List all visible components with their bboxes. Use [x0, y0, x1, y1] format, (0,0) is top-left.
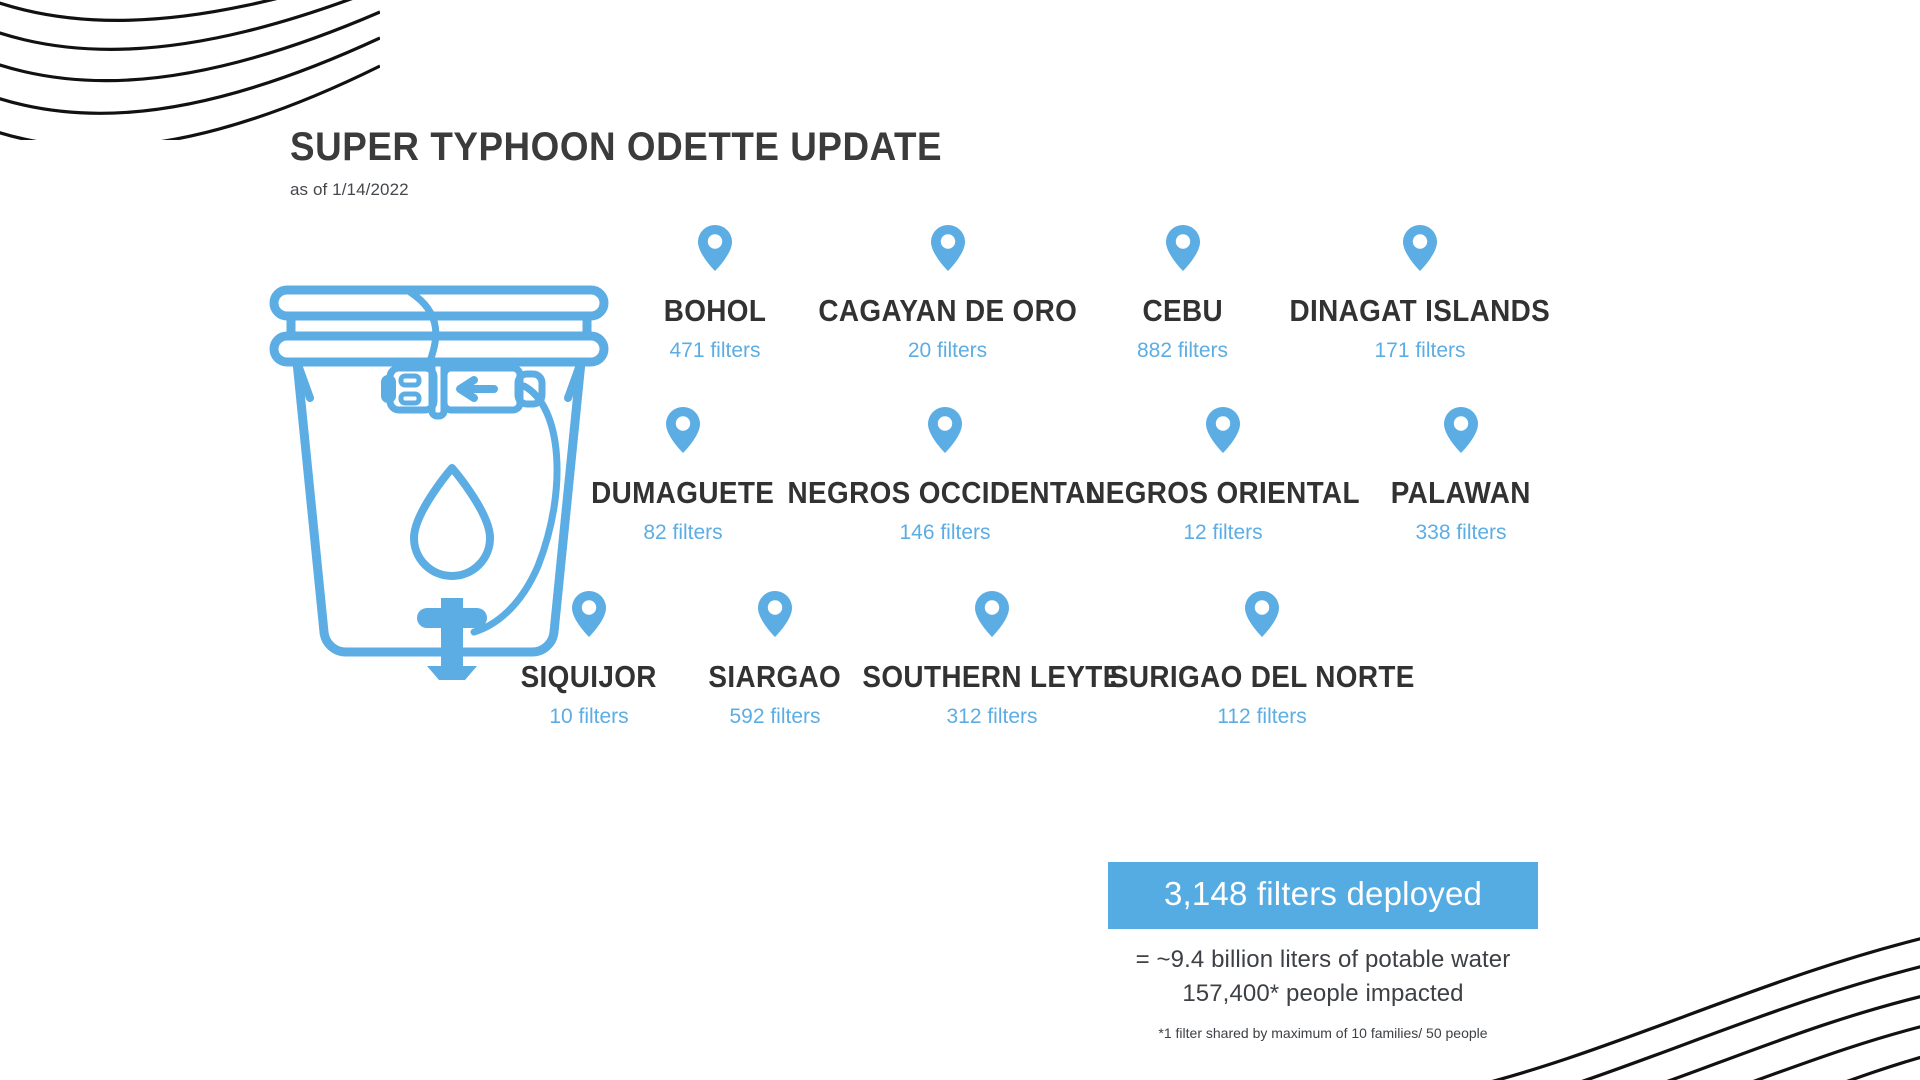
- location-name: SOUTHERN LEYTE: [862, 659, 1121, 695]
- page-title: SUPER TYPHOON ODETTE UPDATE: [290, 125, 942, 170]
- map-pin-icon: [572, 591, 606, 642]
- locations-row-1: BOHOL 471 filters CAGAYAN DE ORO 20 filt…: [600, 225, 1730, 363]
- location-card[interactable]: SOUTHERN LEYTE 312 filters: [868, 591, 1116, 729]
- map-pin-icon: [666, 407, 700, 458]
- map-pin-icon: [928, 407, 962, 458]
- location-card[interactable]: CEBU 882 filters: [1065, 225, 1300, 363]
- map-pin-icon: [931, 225, 965, 276]
- bucket-lid: [274, 290, 604, 316]
- location-card[interactable]: NEGROS OCCIDENTAL 146 filters: [802, 407, 1088, 545]
- location-count: 82 filters: [643, 521, 722, 545]
- filter-unit: [384, 362, 542, 416]
- map-pin-icon: [758, 591, 792, 642]
- summary-block: 3,148 filters deployed = ~9.4 billion li…: [1108, 862, 1538, 1041]
- locations-row-2: DUMAGUETE 82 filters NEGROS OCCIDENTAL 1…: [564, 407, 1730, 545]
- location-count: 471 filters: [669, 339, 760, 363]
- location-count: 171 filters: [1374, 339, 1465, 363]
- locations-grid: BOHOL 471 filters CAGAYAN DE ORO 20 filt…: [600, 225, 1730, 729]
- location-card[interactable]: SIARGAO 592 filters: [682, 591, 868, 729]
- map-pin-icon: [1444, 407, 1478, 458]
- map-pin-icon: [1206, 407, 1240, 458]
- location-name: DINAGAT ISLANDS: [1290, 293, 1551, 329]
- summary-people-line: 157,400* people impacted: [1108, 980, 1538, 1008]
- location-count: 882 filters: [1137, 339, 1228, 363]
- map-pin-icon: [1403, 225, 1437, 276]
- location-card[interactable]: DUMAGUETE 82 filters: [564, 407, 802, 545]
- location-name: SURIGAO DEL NORTE: [1110, 659, 1415, 695]
- water-droplet-icon: [414, 468, 490, 576]
- location-count: 146 filters: [899, 521, 990, 545]
- summary-liters-line: = ~9.4 billion liters of potable water: [1108, 946, 1538, 974]
- flow-arrow-icon: [460, 380, 494, 398]
- locations-row-3: SIQUIJOR 10 filters SIARGAO 592 filters …: [496, 591, 1730, 729]
- location-name: BOHOL: [664, 293, 767, 329]
- location-count: 10 filters: [549, 705, 628, 729]
- location-count: 338 filters: [1415, 521, 1506, 545]
- location-count: 312 filters: [946, 705, 1037, 729]
- header: SUPER TYPHOON ODETTE UPDATE as of 1/14/2…: [290, 125, 999, 200]
- location-count: 20 filters: [908, 339, 987, 363]
- filters-deployed-badge: 3,148 filters deployed: [1108, 862, 1538, 929]
- infographic-canvas: SUPER TYPHOON ODETTE UPDATE as of 1/14/2…: [0, 0, 1920, 1080]
- location-card[interactable]: NEGROS ORIENTAL 12 filters: [1088, 407, 1358, 545]
- location-card[interactable]: SIQUIJOR 10 filters: [496, 591, 682, 729]
- location-card[interactable]: DINAGAT ISLANDS 171 filters: [1300, 225, 1540, 363]
- page-subtitle: as of 1/14/2022: [290, 180, 999, 200]
- location-card[interactable]: BOHOL 471 filters: [600, 225, 830, 363]
- summary-footnote: *1 filter shared by maximum of 10 famili…: [1108, 1025, 1538, 1041]
- location-name: CEBU: [1142, 293, 1223, 329]
- location-name: DUMAGUETE: [591, 475, 774, 511]
- map-pin-icon: [1166, 225, 1200, 276]
- location-name: NEGROS OCCIDENTAL: [787, 475, 1103, 511]
- location-name: PALAWAN: [1391, 475, 1531, 511]
- location-card[interactable]: CAGAYAN DE ORO 20 filters: [830, 225, 1065, 363]
- location-count: 12 filters: [1183, 521, 1262, 545]
- location-card[interactable]: PALAWAN 338 filters: [1358, 407, 1564, 545]
- bucket-rim: [274, 336, 604, 362]
- location-count: 592 filters: [729, 705, 820, 729]
- map-pin-icon: [698, 225, 732, 276]
- location-name: SIARGAO: [709, 659, 842, 695]
- spigot-icon: [417, 598, 487, 680]
- location-name: CAGAYAN DE ORO: [818, 293, 1077, 329]
- decorative-waves-top-left: [0, 0, 380, 140]
- location-name: NEGROS ORIENTAL: [1086, 475, 1361, 511]
- filter-hose: [410, 292, 436, 366]
- location-count: 112 filters: [1217, 705, 1307, 729]
- location-card[interactable]: SURIGAO DEL NORTE 112 filters: [1116, 591, 1408, 729]
- map-pin-icon: [1245, 591, 1279, 642]
- map-pin-icon: [975, 591, 1009, 642]
- location-name: SIQUIJOR: [521, 659, 657, 695]
